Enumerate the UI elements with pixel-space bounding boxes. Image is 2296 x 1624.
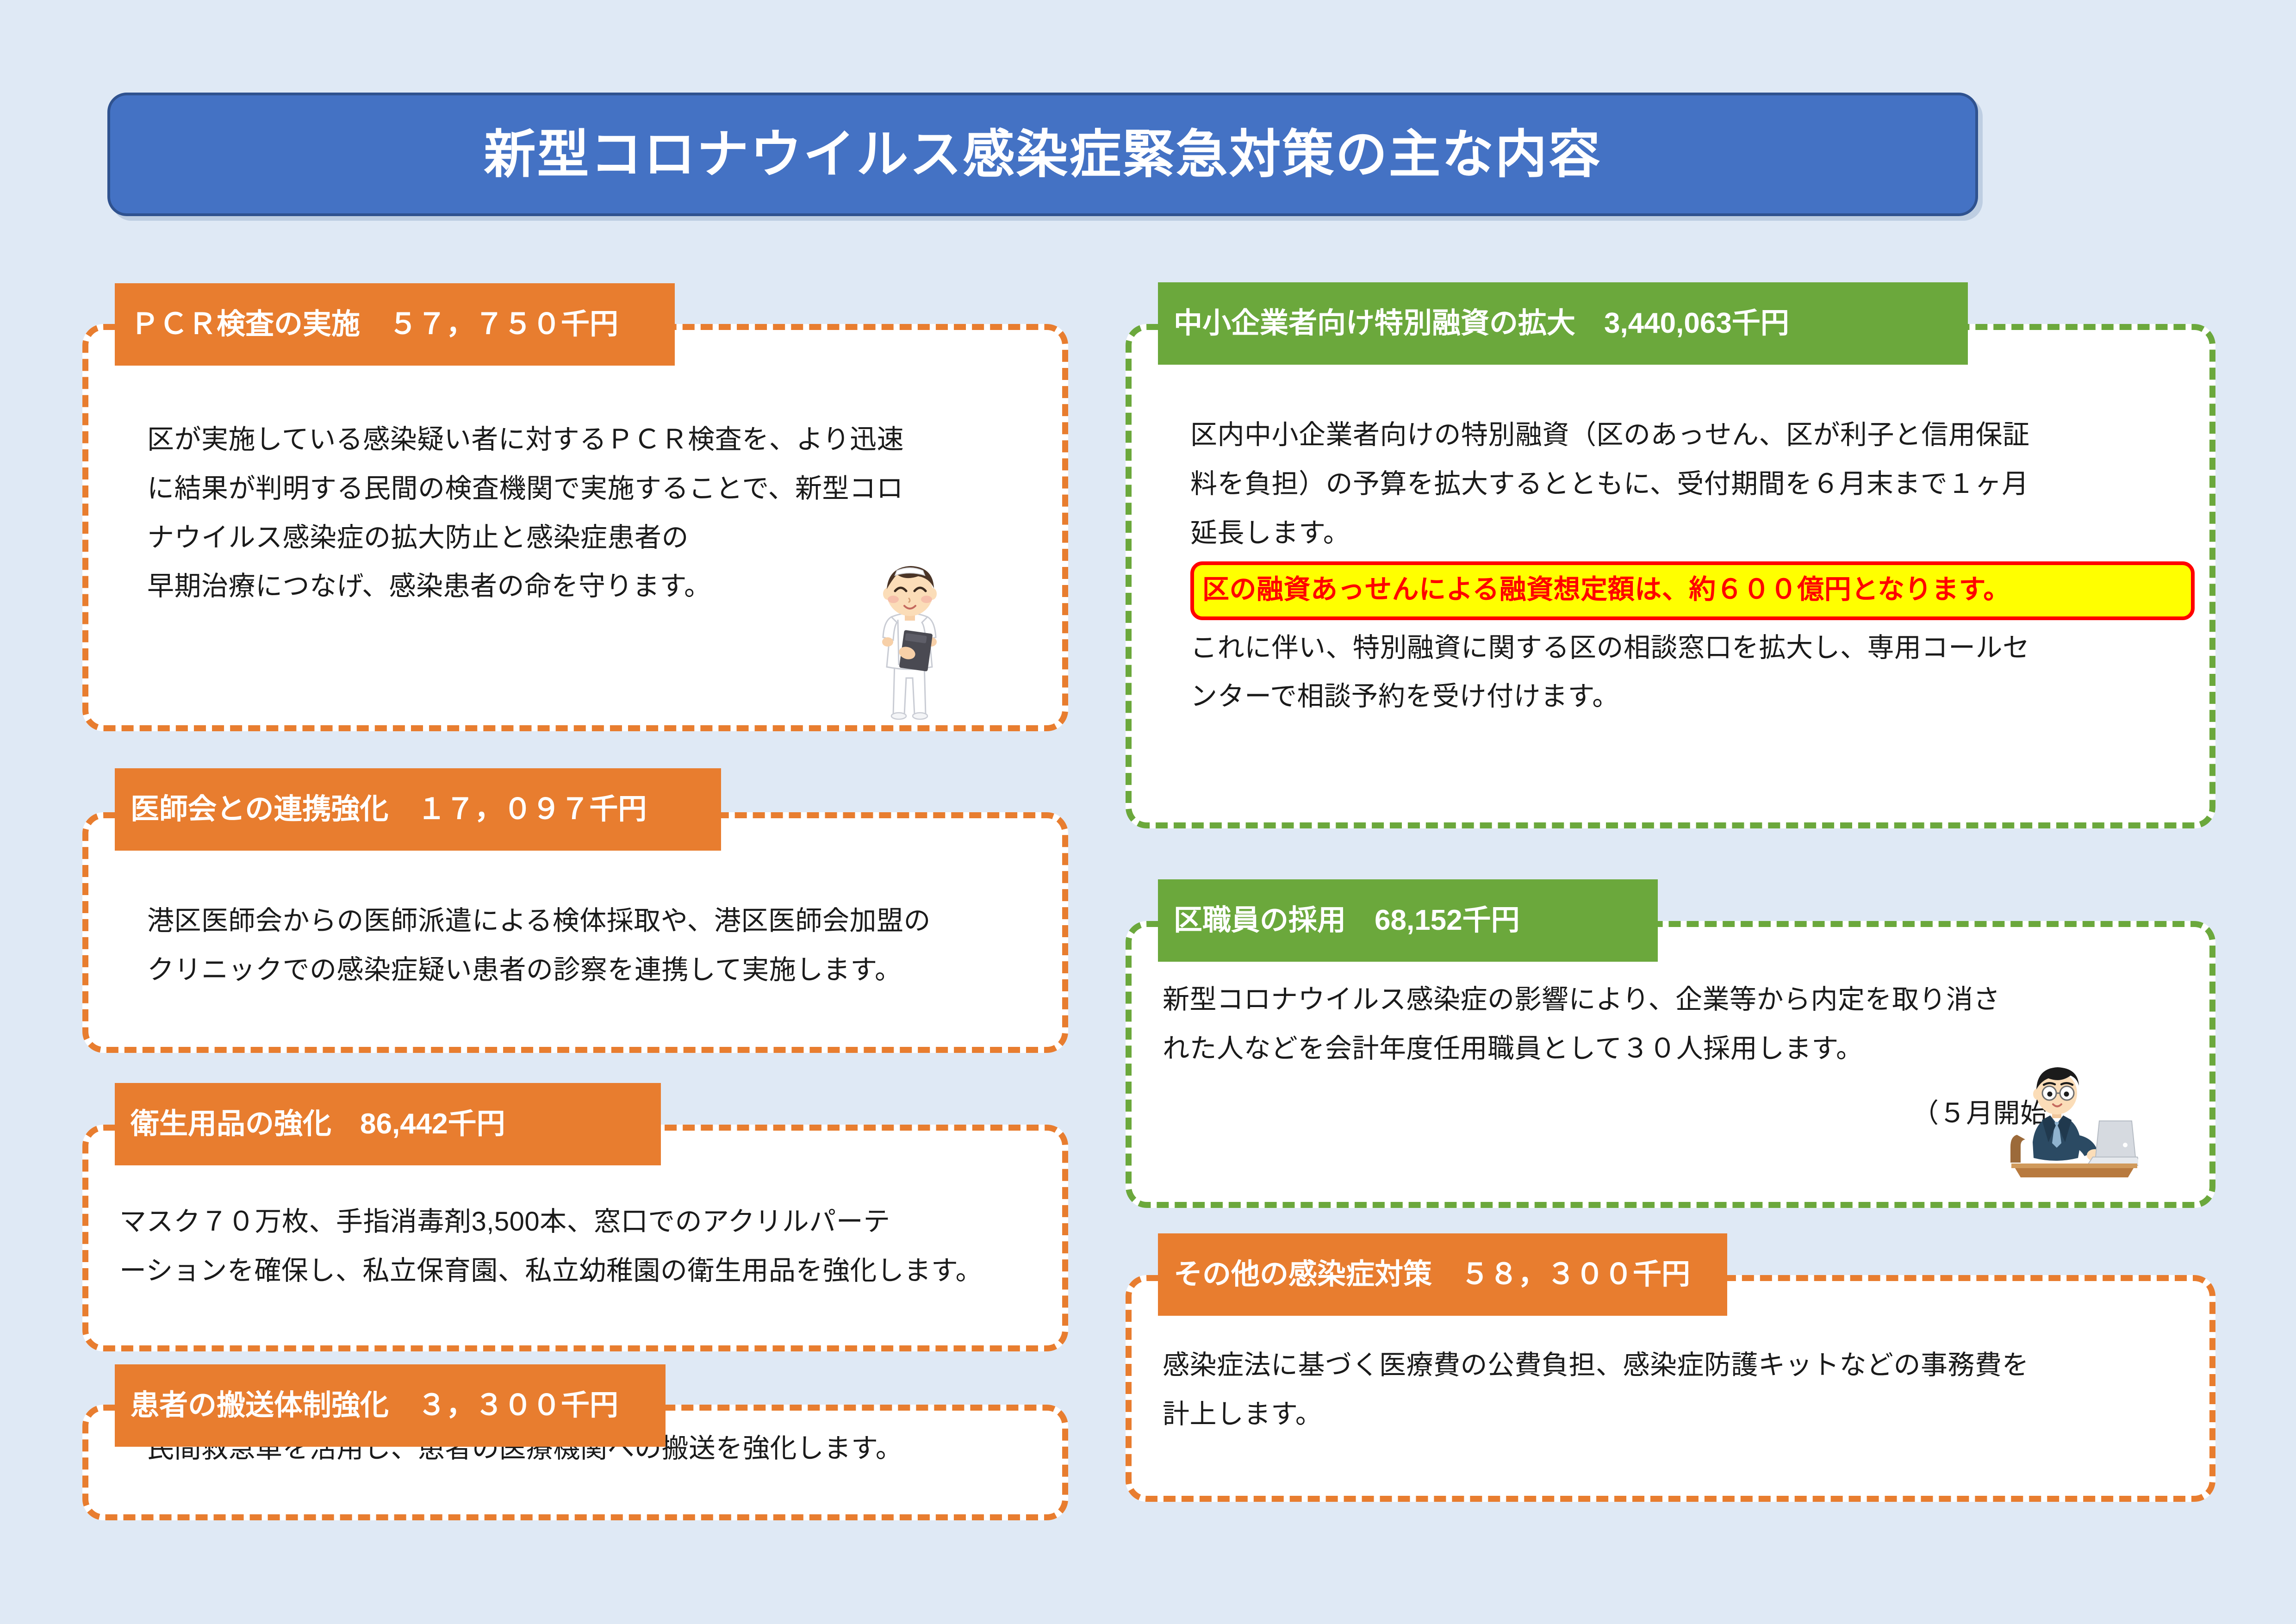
card-label-pcr: ＰＣＲ検査の実施 ５７，７５０千円 [115,283,675,366]
page-title: 新型コロナウイルス感染症緊急対策の主な内容 [484,129,1602,180]
card-body-other-measures: 感染症法に基づく医療費の公費負担、感染症防護キットなどの事務費を 計上します。 [1163,1342,2195,1440]
body-line: 港区医師会からの医師派遣による検体採取や、港区医師会加盟の [147,898,1054,944]
card-body-doctor-association: 港区医師会からの医師派遣による検体採取や、港区医師会加盟の クリニックでの感染症… [147,898,1054,996]
body-line: 区内中小企業者向けの特別融資（区のあっせん、区が利子と信用保証 [1190,412,2195,458]
male-nurse-illustration [847,562,972,724]
highlight-box-loan-estimate: 区の融資あっせんによる融資想定額は、約６００億円となります。 [1190,561,2195,620]
body-line: マスク７０万枚、手指消毒剤3,500本、窓口でのアクリルパーテ [119,1199,1059,1245]
card-label-text-sme-loan: 中小企業者向け特別融資の拡大 3,440,063千円 [1174,309,1789,338]
card-body-sme-loan: 区内中小企業者向けの特別融資（区のあっせん、区が利子と信用保証 料を負担）の予算… [1190,412,2195,722]
body-line: 計上します。 [1163,1391,2195,1437]
card-label-text-patient-transport: 患者の搬送体制強化 ３，３００千円 [131,1391,618,1420]
card-label-other-measures: その他の感染症対策 ５８，３００千円 [1158,1233,1727,1316]
card-label-text-hygiene-supplies: 衛生用品の強化 86,442千円 [131,1110,505,1139]
body-line: 新型コロナウイルス感染症の影響により、企業等から内定を取り消さ [1163,977,2195,1023]
page-title-banner: 新型コロナウイルス感染症緊急対策の主な内容 [107,93,1978,216]
body-line: に結果が判明する民間の検査機関で実施することで、新型コロ [147,466,1054,512]
body-line: クリニックでの感染症疑い患者の診察を連携して実施します。 [147,947,1054,993]
body-line: 感染症法に基づく医療費の公費負担、感染症防護キットなどの事務費を [1163,1342,2195,1388]
poster-root: 新型コロナウイルス感染症緊急対策の主な内容 ＰＣＲ検査の実施 ５７，７５０千円 … [0,0,2296,1624]
card-label-hygiene-supplies: 衛生用品の強化 86,442千円 [115,1083,661,1165]
body-line: 区が実施している感染疑い者に対するＰＣＲ検査を、より迅速 [147,417,1054,463]
body-line: ンターで相談予約を受け付けます。 [1190,673,2195,720]
card-label-text-pcr: ＰＣＲ検査の実施 ５７，７５０千円 [131,310,618,339]
card-label-sme-loan: 中小企業者向け特別融資の拡大 3,440,063千円 [1158,282,1968,365]
body-line: ーションを確保し、私立保育園、私立幼稚園の衛生用品を強化します。 [119,1248,1059,1294]
card-label-patient-transport: 患者の搬送体制強化 ３，３００千円 [115,1364,666,1447]
highlight-text: 区の融資あっせんによる融資想定額は、約６００億円となります。 [1202,572,2183,608]
card-label-ward-staff-hiring: 区職員の採用 68,152千円 [1158,879,1658,962]
body-line: 延長します。 [1190,510,2195,556]
body-line: ナウイルス感染症の拡大防止と感染症患者の [147,515,1054,561]
card-label-text-doctor-association: 医師会との連携強化 １７，０９７千円 [131,795,647,824]
body-line: これに伴い、特別融資に関する区の相談窓口を拡大し、専用コールセ [1190,625,2195,671]
card-label-doctor-association: 医師会との連携強化 １７，０９７千円 [115,768,721,851]
card-label-text-other-measures: その他の感染症対策 ５８，３００千円 [1174,1260,1690,1289]
office-worker-illustration [2004,1064,2138,1194]
card-label-text-ward-staff-hiring: 区職員の採用 68,152千円 [1174,906,1520,935]
card-body-hygiene-supplies: マスク７０万枚、手指消毒剤3,500本、窓口でのアクリルパーテ ーションを確保し… [119,1199,1059,1297]
body-line: 料を負担）の予算を拡大するとともに、受付期間を６月末まで１ヶ月 [1190,461,2195,507]
